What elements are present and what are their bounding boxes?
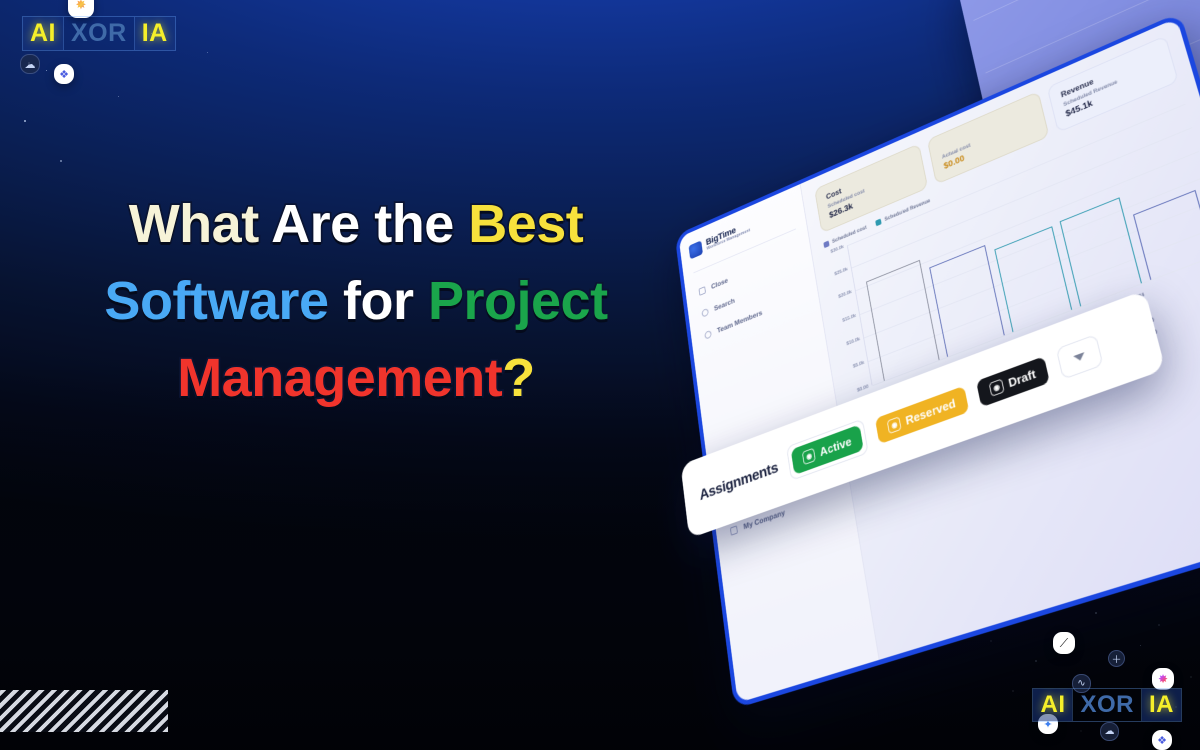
sidebar-item-label: Close (711, 276, 729, 291)
brand-logo-ia: IA (1142, 689, 1181, 721)
star (207, 52, 208, 53)
y-tick: $25.0k (834, 267, 848, 277)
headline-word: What (129, 194, 259, 254)
app-icon-bird[interactable]: ❖ (54, 64, 74, 84)
legend-swatch (875, 218, 882, 226)
headline-word: Management (177, 348, 502, 408)
y-tick: $0.00 (857, 384, 869, 393)
thumbnail-canvas: Scheduled Revenue Scheduled cost Februar… (0, 0, 1200, 750)
headline-word: for (343, 271, 413, 331)
plus-icon: ＋ (1112, 651, 1122, 666)
headline-word: Best (468, 194, 583, 254)
gemini-icon: ✸ (76, 0, 87, 13)
bird-icon: ❖ (1157, 734, 1167, 747)
y-tick: $15.0k (842, 313, 856, 323)
gemini-icon: ✸ (1158, 672, 1168, 686)
brand-logo-bottom: AI XOR IA (1032, 688, 1182, 722)
y-tick: $20.0k (838, 290, 852, 300)
brand-logo-xor: XOR (63, 17, 135, 50)
openai-icon: ⟋ (1060, 636, 1068, 651)
brand-logo-ia: IA (135, 17, 175, 50)
sidebar-item-label: Search (714, 296, 736, 312)
report-icon (727, 500, 735, 510)
headline-word: the (374, 194, 454, 254)
brand-logo-top: AI XOR IA (22, 16, 176, 51)
brand-logo-xor: XOR (1072, 689, 1142, 721)
headline-word: ? (502, 348, 535, 408)
y-tick: $10.0k (846, 336, 860, 346)
brand-logo-ai: AI (1033, 689, 1072, 721)
legend-swatch (823, 240, 829, 248)
clock-icon (723, 476, 731, 486)
headline-word: Project (428, 271, 608, 331)
y-tick: $5.0k (853, 360, 865, 369)
app-window: BigTime Workforce Management Close Searc… (675, 12, 1200, 709)
decorative-hatch-band (0, 690, 168, 732)
search-icon (701, 308, 708, 318)
cloud-icon: ☁ (25, 58, 36, 71)
bigtime-logo-icon (689, 240, 703, 259)
chart-bar (929, 245, 1004, 357)
openai-icon-badge[interactable]: ⟋ (1053, 632, 1075, 654)
chart-bar (866, 260, 940, 381)
cloud-icon-badge-br[interactable]: ☁ (1100, 722, 1119, 741)
people-icon (704, 329, 711, 339)
headline-word: Software (104, 271, 328, 331)
star (60, 160, 62, 162)
chevron-left-icon (699, 286, 706, 296)
page-title: What Are the Best Software for Project M… (46, 186, 666, 417)
headline-word: Are (271, 194, 360, 254)
cloud-icon-badge[interactable]: ☁ (20, 54, 40, 74)
building-icon (730, 525, 738, 535)
star (118, 96, 119, 97)
sidebar-item-label: Reports (740, 489, 766, 507)
bird-icon: ❖ (59, 68, 69, 81)
plus-icon-badge[interactable]: ＋ (1108, 650, 1125, 667)
y-tick: $30.0k (830, 244, 844, 254)
sidebar-item-label: Time Off (736, 464, 764, 482)
sidebar-item-label: My Company (743, 508, 786, 532)
scope-select-value: Whole project (864, 430, 901, 449)
app-icon-gemini-br[interactable]: ✸ (1152, 668, 1174, 690)
star (24, 120, 26, 122)
app-icon-bird-br[interactable]: ❖ (1152, 730, 1172, 750)
star (46, 70, 47, 71)
brand-logo-ai: AI (23, 17, 63, 50)
dashboard-mockup: Scheduled Revenue Scheduled cost Februar… (612, 0, 1200, 750)
cloud-icon: ☁ (1105, 726, 1115, 737)
